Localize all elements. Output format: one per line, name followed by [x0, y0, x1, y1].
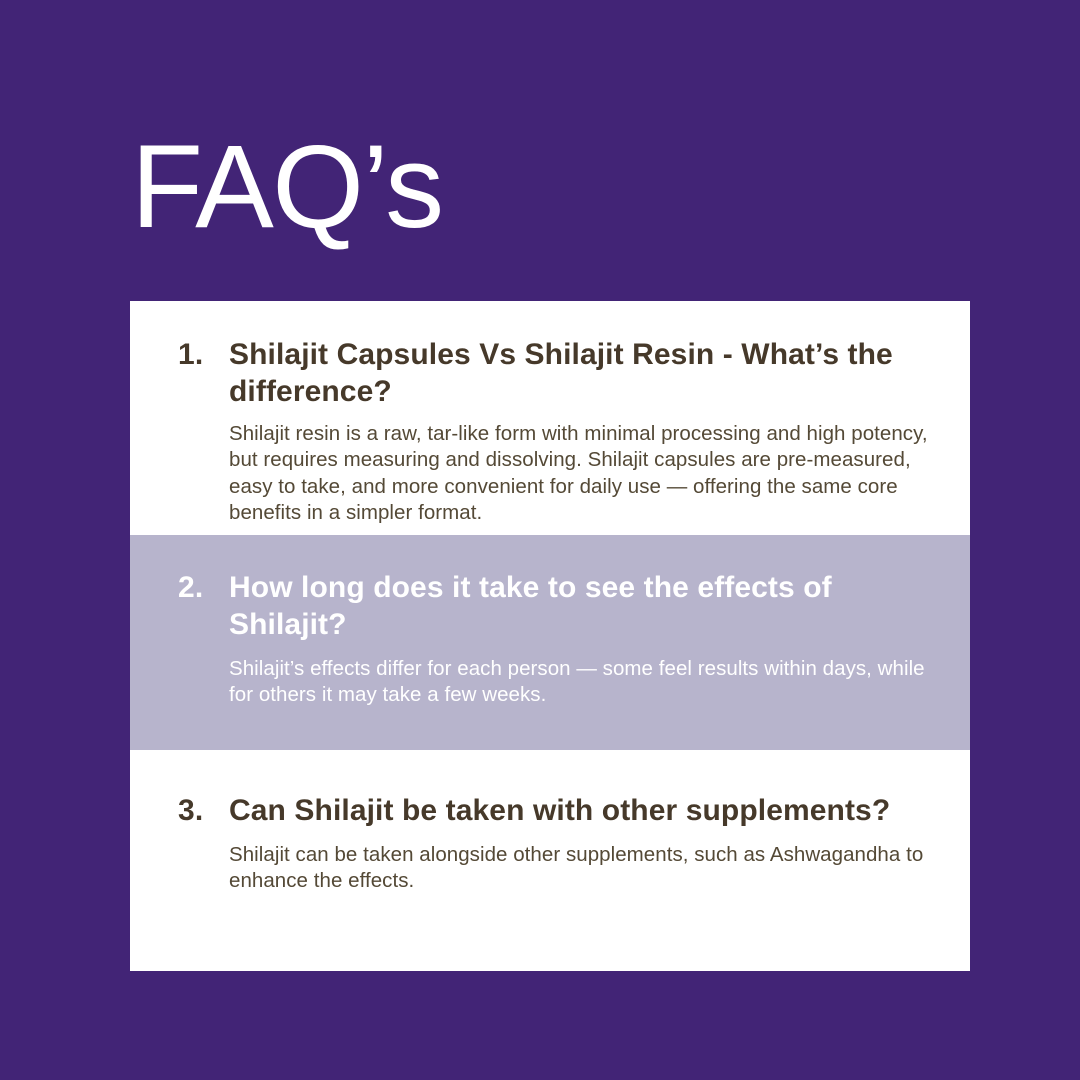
faq-item-number-3: 3.: [178, 793, 229, 830]
faq-card: 1. Shilajit Capsules Vs Shilajit Resin -…: [130, 301, 970, 971]
faq-page: FAQ’s 1. Shilajit Capsules Vs Shilajit R…: [0, 0, 1080, 1080]
faq-item-number-1: 1.: [178, 337, 229, 374]
faq-answer-3: Shilajit can be taken alongside other su…: [130, 842, 970, 894]
faq-question-row-2: 2. How long does it take to see the effe…: [130, 570, 970, 643]
faq-answer-1: Shilajit resin is a raw, tar-like form w…: [130, 421, 970, 526]
faq-item-1[interactable]: 1. Shilajit Capsules Vs Shilajit Resin -…: [130, 301, 970, 535]
faq-item-2[interactable]: 2. How long does it take to see the effe…: [130, 535, 970, 750]
faq-item-3[interactable]: 3. Can Shilajit be taken with other supp…: [130, 750, 970, 971]
faq-question-row-3: 3. Can Shilajit be taken with other supp…: [130, 793, 970, 830]
faq-answer-2: Shilajit’s effects differ for each perso…: [130, 656, 970, 708]
faq-item-number-2: 2.: [178, 570, 229, 607]
faq-question-3: Can Shilajit be taken with other supplem…: [229, 793, 940, 830]
faq-question-1: Shilajit Capsules Vs Shilajit Resin - Wh…: [229, 337, 940, 410]
faq-question-2: How long does it take to see the effects…: [229, 570, 940, 643]
page-title: FAQ’s: [131, 128, 443, 246]
faq-question-row-1: 1. Shilajit Capsules Vs Shilajit Resin -…: [130, 337, 970, 410]
